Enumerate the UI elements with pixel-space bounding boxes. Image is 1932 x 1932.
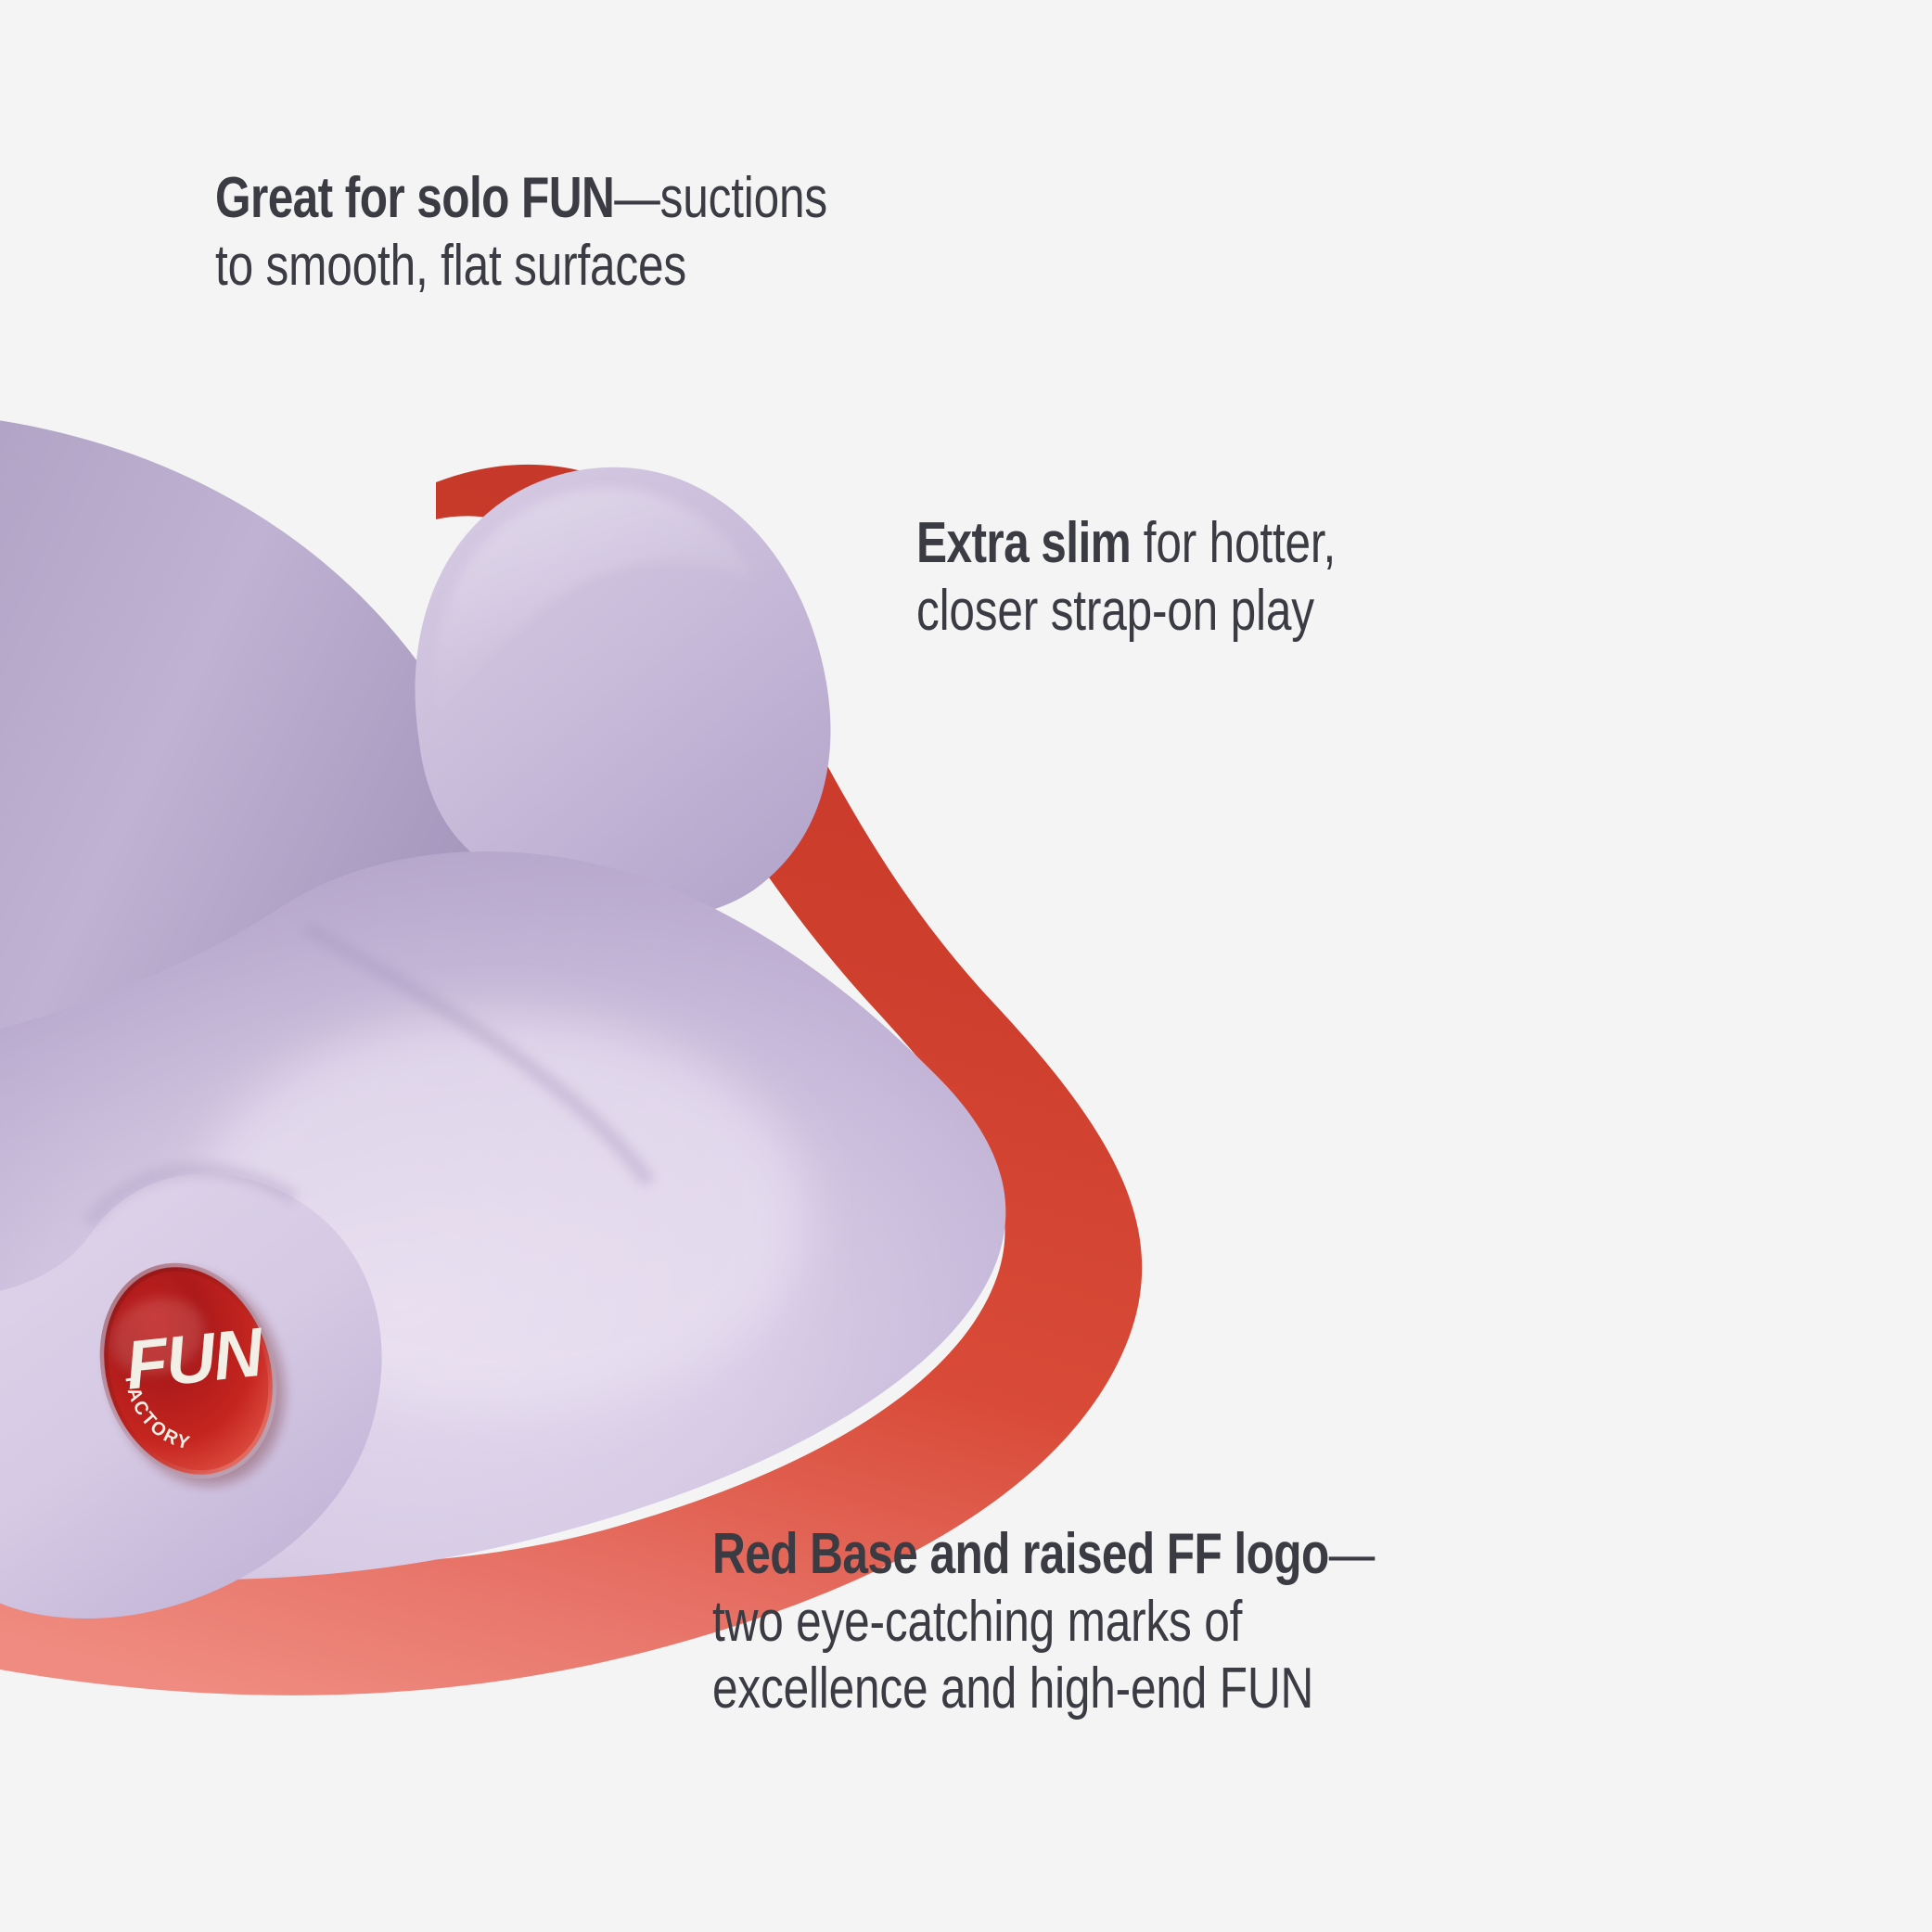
head-lobe-highlight xyxy=(433,488,757,723)
fun-factory-logo-badge: FUN FACTORY xyxy=(78,1242,312,1509)
callout-solo-fun: Great for solo FUN—suctions to smooth, f… xyxy=(215,165,1328,300)
callout-solo-line2: to smooth, flat surfaces xyxy=(215,233,1328,301)
callout-redbase-line1: Red Base and raised FF logo— xyxy=(712,1521,1825,1589)
flange-sheen xyxy=(195,1016,807,1414)
badge-bevel-ring xyxy=(78,1245,299,1496)
callout-solo-line1: Great for solo FUN—suctions xyxy=(215,165,1328,233)
badge-gloss xyxy=(100,1286,215,1386)
callout-red-base-logo: Red Base and raised FF logo— two eye-cat… xyxy=(712,1521,1825,1723)
callout-slim-rest: for hotter, xyxy=(1131,511,1336,575)
badge-shadow xyxy=(82,1247,312,1508)
callout-redbase-bold: Red Base and raised FF logo xyxy=(712,1522,1329,1586)
callout-redbase-line2: two eye-catching marks of xyxy=(712,1589,1825,1657)
callout-slim-bold: Extra slim xyxy=(916,511,1131,575)
callout-redbase-dash: — xyxy=(1329,1522,1375,1586)
product-feature-callout-image: FUN FACTORY Great for solo FUN—suctions … xyxy=(0,0,1932,1932)
product-base-lobe xyxy=(0,1173,382,1619)
product-shaft xyxy=(0,416,673,1247)
callout-extra-slim: Extra slim for hotter, closer strap-on p… xyxy=(916,510,1807,645)
base-lobe-notch xyxy=(89,1170,295,1222)
product-head-lobe xyxy=(416,467,831,919)
logo-fun-text: FUN xyxy=(122,1312,267,1403)
callout-slim-line1: Extra slim for hotter, xyxy=(916,510,1807,578)
callout-redbase-line3: excellence and high-end FUN xyxy=(712,1656,1825,1723)
badge-body xyxy=(78,1245,299,1496)
callout-solo-dash: — xyxy=(614,166,659,230)
callout-slim-line2: closer strap-on play xyxy=(916,578,1807,646)
callout-solo-rest: suctions xyxy=(660,166,827,230)
flange-shading xyxy=(0,851,1005,1580)
callout-solo-bold: Great for solo FUN xyxy=(215,166,614,230)
logo-factory-text: FACTORY xyxy=(121,1367,197,1464)
red-base-rim xyxy=(0,465,1142,1695)
shaft-flange-crease xyxy=(306,928,649,1183)
svg-text:FACTORY: FACTORY xyxy=(121,1367,197,1464)
product-flange-base xyxy=(0,851,1005,1580)
